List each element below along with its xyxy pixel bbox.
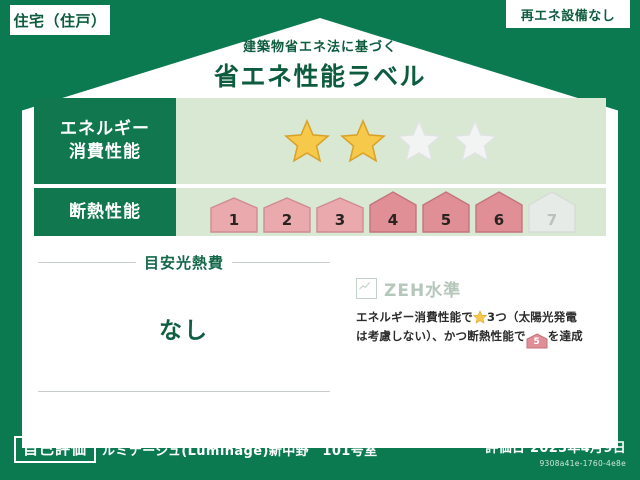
energy-performance-value: [176, 98, 606, 184]
zeh-section: ZEH水準 エネルギー消費性能で3つ（太陽光発電 は考慮しない）、かつ断熱性能で…: [334, 252, 606, 420]
zeh-desc-part3: は考慮しない）、かつ断熱性能で: [356, 329, 526, 343]
renewable-equipment-badge: 再エネ設備なし: [506, 0, 630, 28]
utility-cost-bottom-divider: [38, 391, 330, 392]
insulation-grade-badge: 7: [527, 190, 577, 234]
inline-grade-badge: 5: [526, 333, 548, 349]
insulation-grade-label: 5: [441, 211, 451, 234]
building-name: ルミナージュ(Luminage)新中野 101号室: [102, 440, 378, 459]
insulation-grade-badge: 2: [262, 196, 312, 234]
star-icon: [452, 118, 498, 164]
energy-performance-label: 住宅（住戸） 再エネ設備なし 建築物省エネ法に基づく 省エネ性能ラベル エネルギ…: [0, 0, 640, 480]
insulation-grade-label: 6: [494, 211, 504, 234]
inline-grade-label: 5: [526, 333, 548, 352]
utility-cost-section: 目安光熱費 なし: [34, 252, 334, 420]
energy-key-line1: エネルギー: [60, 118, 150, 141]
divider-left: [38, 262, 136, 263]
insulation-grade-label: 1: [229, 211, 239, 234]
insulation-grade-label: 7: [547, 211, 557, 234]
energy-performance-row: エネルギー 消費性能: [34, 98, 606, 184]
star-icon: [284, 118, 330, 164]
insulation-grade-badge: 1: [209, 196, 259, 234]
insulation-grade-badge: 4: [368, 190, 418, 234]
label-content-card: エネルギー 消費性能: [34, 98, 606, 428]
star-icon: [340, 118, 386, 164]
category-badge: 住宅（住戸）: [10, 5, 110, 35]
label-footer: 自己評価 ルミナージュ(Luminage)新中野 101号室 評価日 2025年…: [0, 428, 640, 480]
insulation-grade-label: 4: [388, 211, 398, 234]
energy-key-line2: 消費性能: [60, 141, 150, 164]
evaluation-date: 評価日 2025年4月9日: [485, 437, 626, 456]
insulation-grade-scale: 1 2 3 4: [205, 190, 577, 234]
zeh-title: ZEH水準: [384, 276, 461, 301]
insulation-grade-badge: 6: [474, 190, 524, 234]
utility-cost-value: なし: [34, 311, 334, 345]
zeh-description: エネルギー消費性能で3つ（太陽光発電 は考慮しない）、かつ断熱性能で5を達成: [356, 308, 606, 349]
zeh-desc-part2: 3つ（太陽光発電: [487, 310, 577, 324]
zeh-header: ZEH水準: [356, 276, 606, 301]
evaluation-id: 9308a41e-1760-4e8e: [485, 459, 626, 468]
divider-right: [232, 262, 330, 263]
star-icon: [473, 310, 487, 324]
insulation-grade-badge: 3: [315, 196, 365, 234]
lower-section: 目安光熱費 なし ZEH水準 エネルギー消費性能で3つ（太陽光発電 は考慮しない…: [34, 252, 606, 420]
unchecked-chart-icon: [356, 278, 377, 299]
insulation-performance-row: 断熱性能 1 2 3: [34, 188, 606, 236]
evaluation-type-badge: 自己評価: [14, 436, 96, 463]
insulation-grade-label: 2: [282, 211, 292, 234]
utility-cost-title: 目安光熱費: [144, 252, 224, 273]
star-icon: [396, 118, 442, 164]
star-rating: [284, 118, 498, 164]
zeh-desc-part1: エネルギー消費性能で: [356, 310, 473, 324]
footer-right: 評価日 2025年4月9日 9308a41e-1760-4e8e: [485, 437, 626, 468]
insulation-performance-value: 1 2 3 4: [176, 188, 606, 236]
energy-performance-key: エネルギー 消費性能: [34, 98, 176, 184]
insulation-grade-label: 3: [335, 211, 345, 234]
utility-cost-header: 目安光熱費: [34, 252, 334, 273]
insulation-performance-key: 断熱性能: [34, 188, 176, 236]
zeh-desc-part4: を達成: [548, 329, 583, 343]
footer-left: 自己評価 ルミナージュ(Luminage)新中野 101号室: [14, 436, 378, 463]
insulation-grade-badge: 5: [421, 190, 471, 234]
